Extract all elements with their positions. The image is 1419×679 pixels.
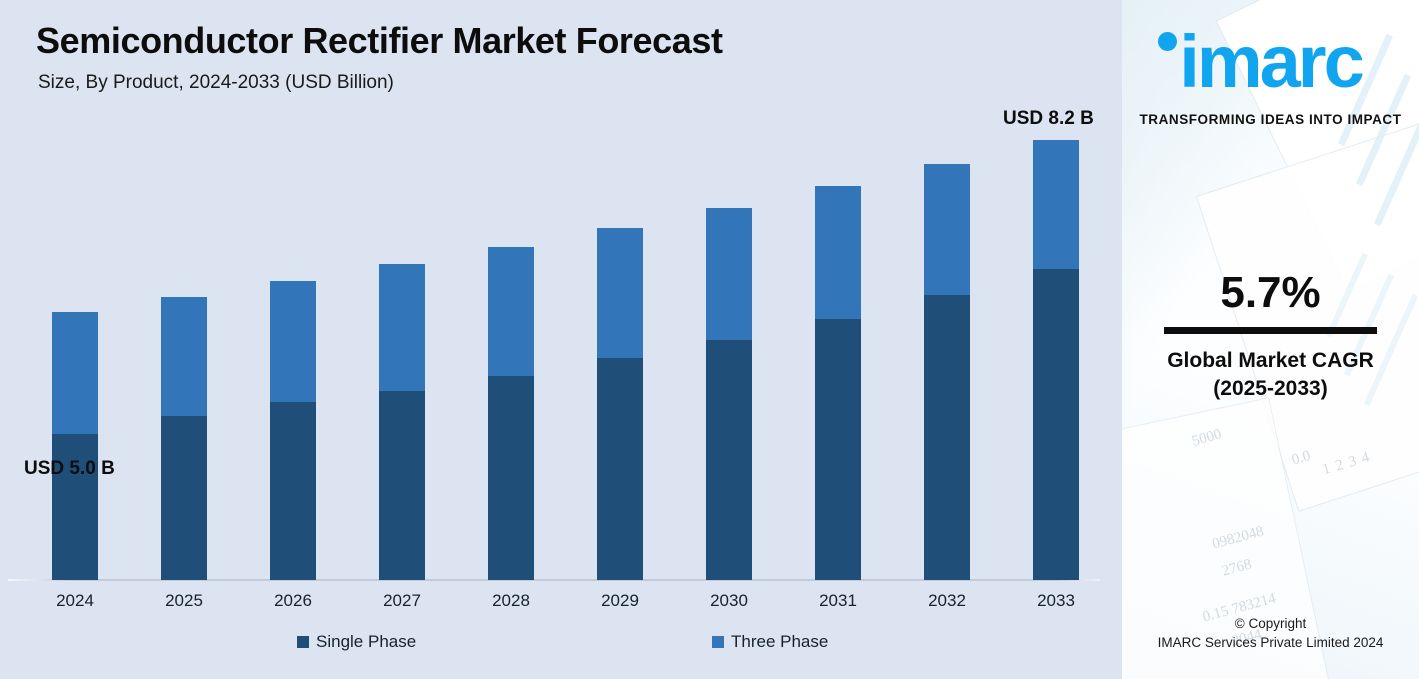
bar-segment-single-phase (1033, 269, 1079, 580)
bar-segment-single-phase (815, 319, 861, 580)
cagr-caption-period: (2025-2033) (1122, 375, 1419, 403)
bar-segment-three-phase (52, 312, 98, 434)
x-axis-label: 2025 (161, 591, 207, 611)
cagr-value: 5.7% (1122, 268, 1419, 318)
legend-label: Single Phase (316, 632, 416, 652)
bar-group (815, 186, 861, 580)
bar-group (379, 264, 425, 580)
cagr-divider (1164, 327, 1377, 334)
bar-segment-three-phase (924, 164, 970, 295)
bar-segment-three-phase (379, 264, 425, 391)
bar-segment-three-phase (270, 281, 316, 402)
start-value-annotation: USD 5.0 B (24, 458, 115, 480)
legend-item-single-phase[interactable]: Single Phase (297, 632, 416, 652)
plot-area: 2024202520262027202820292030203120322033… (0, 0, 1122, 580)
bar-segment-three-phase (161, 297, 207, 416)
legend-label: Three Phase (731, 632, 828, 652)
bar-group (161, 297, 207, 580)
bar-group (270, 281, 316, 580)
cagr-block: 5.7% Global Market CAGR (2025-2033) (1122, 268, 1419, 403)
bar-group (52, 312, 98, 580)
bar-group (597, 228, 643, 580)
chart-legend: Single PhaseThree Phase (0, 632, 1122, 662)
imarc-logo: imarc TRANSFORMING IDEAS INTO IMPACT (1122, 22, 1419, 132)
bar-group (1033, 140, 1079, 580)
brand-side-panel: 5000 0.0 1234 0982048 2768 0.15 783214 2… (1122, 0, 1419, 679)
x-axis-label: 2028 (488, 591, 534, 611)
imarc-logo-dot-icon (1158, 32, 1177, 51)
x-axis-label: 2026 (270, 591, 316, 611)
imarc-logo-tagline: TRANSFORMING IDEAS INTO IMPACT (1122, 112, 1419, 127)
x-axis-label: 2031 (815, 591, 861, 611)
bar-group (706, 208, 752, 580)
legend-swatch-icon (297, 636, 309, 648)
bar-segment-single-phase (924, 295, 970, 580)
bar-group (924, 164, 970, 580)
end-value-annotation: USD 8.2 B (1003, 108, 1094, 130)
chart-infographic: Semiconductor Rectifier Market Forecast … (0, 0, 1419, 679)
legend-swatch-icon (712, 636, 724, 648)
bar-group (488, 247, 534, 580)
bar-segment-single-phase (488, 376, 534, 580)
bar-segment-three-phase (1033, 140, 1079, 269)
bar-segment-three-phase (706, 208, 752, 340)
bar-segment-single-phase (706, 340, 752, 580)
x-axis-label: 2029 (597, 591, 643, 611)
x-axis-label: 2024 (52, 591, 98, 611)
bar-segment-single-phase (161, 416, 207, 580)
bar-segment-three-phase (597, 228, 643, 358)
cagr-caption-primary: Global Market CAGR (1122, 347, 1419, 375)
copyright-notice: © Copyright IMARC Services Private Limit… (1122, 614, 1419, 652)
bar-segment-single-phase (379, 391, 425, 580)
bar-segment-three-phase (815, 186, 861, 319)
bar-segment-three-phase (488, 247, 534, 376)
x-axis-label: 2027 (379, 591, 425, 611)
x-axis-label: 2033 (1033, 591, 1079, 611)
x-axis-label: 2032 (924, 591, 970, 611)
copyright-line-1: © Copyright (1122, 614, 1419, 633)
copyright-line-2: IMARC Services Private Limited 2024 (1122, 633, 1419, 652)
legend-item-three-phase[interactable]: Three Phase (712, 632, 828, 652)
bar-segment-single-phase (52, 434, 98, 580)
bar-segment-single-phase (270, 402, 316, 580)
bar-segment-single-phase (597, 358, 643, 580)
chart-panel: Semiconductor Rectifier Market Forecast … (0, 0, 1122, 679)
x-axis-label: 2030 (706, 591, 752, 611)
